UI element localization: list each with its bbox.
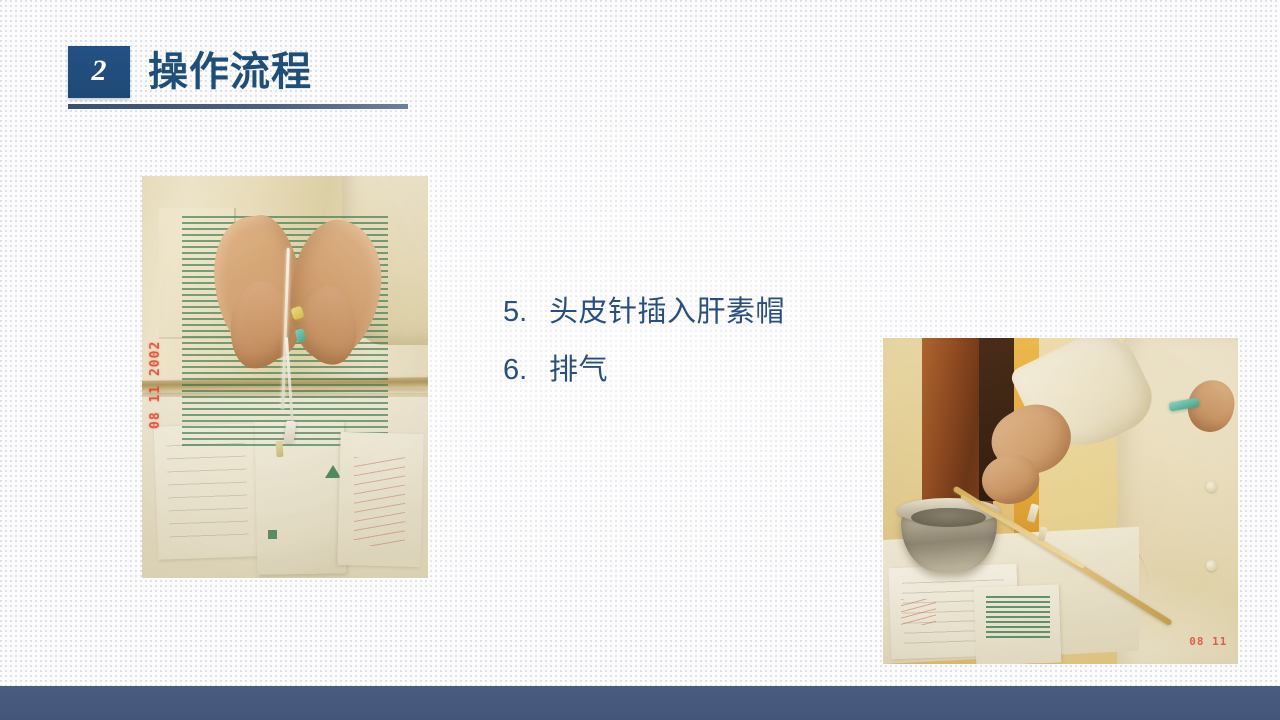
title-underline-rule [68,104,408,109]
photo-right-color-wash [883,338,1238,664]
list-item-label: 排气 [549,356,608,385]
photo-left-color-wash [142,176,428,578]
list-item-number: 5. [503,298,549,327]
slide-root: 2 操作流程 [0,0,1280,720]
list-item-number: 6. [503,356,549,385]
procedure-step-list: 5. 头皮针插入肝素帽 6. 排气 [503,298,785,385]
photo-left-inner: 08 11 2002 [142,176,428,578]
list-item: 6. 排气 [503,356,785,385]
section-number-text: 2 [92,56,107,88]
list-item-label: 头皮针插入肝素帽 [549,298,785,327]
photo-insert-needle-into-heparin-cap: 08 11 2002 [142,176,428,578]
slide-title-block: 2 操作流程 [68,46,312,98]
photo-right-date-stamp: 08 11 [1189,635,1227,648]
photo-left-date-stamp: 08 11 2002 [148,341,163,429]
section-number-badge: 2 [68,46,130,98]
photo-purge-air-over-basin: 08 11 [883,338,1238,664]
page-title: 操作流程 [148,46,312,98]
list-item: 5. 头皮针插入肝素帽 [503,298,785,327]
photo-right-inner: 08 11 [883,338,1238,664]
footer-bar [0,686,1280,720]
